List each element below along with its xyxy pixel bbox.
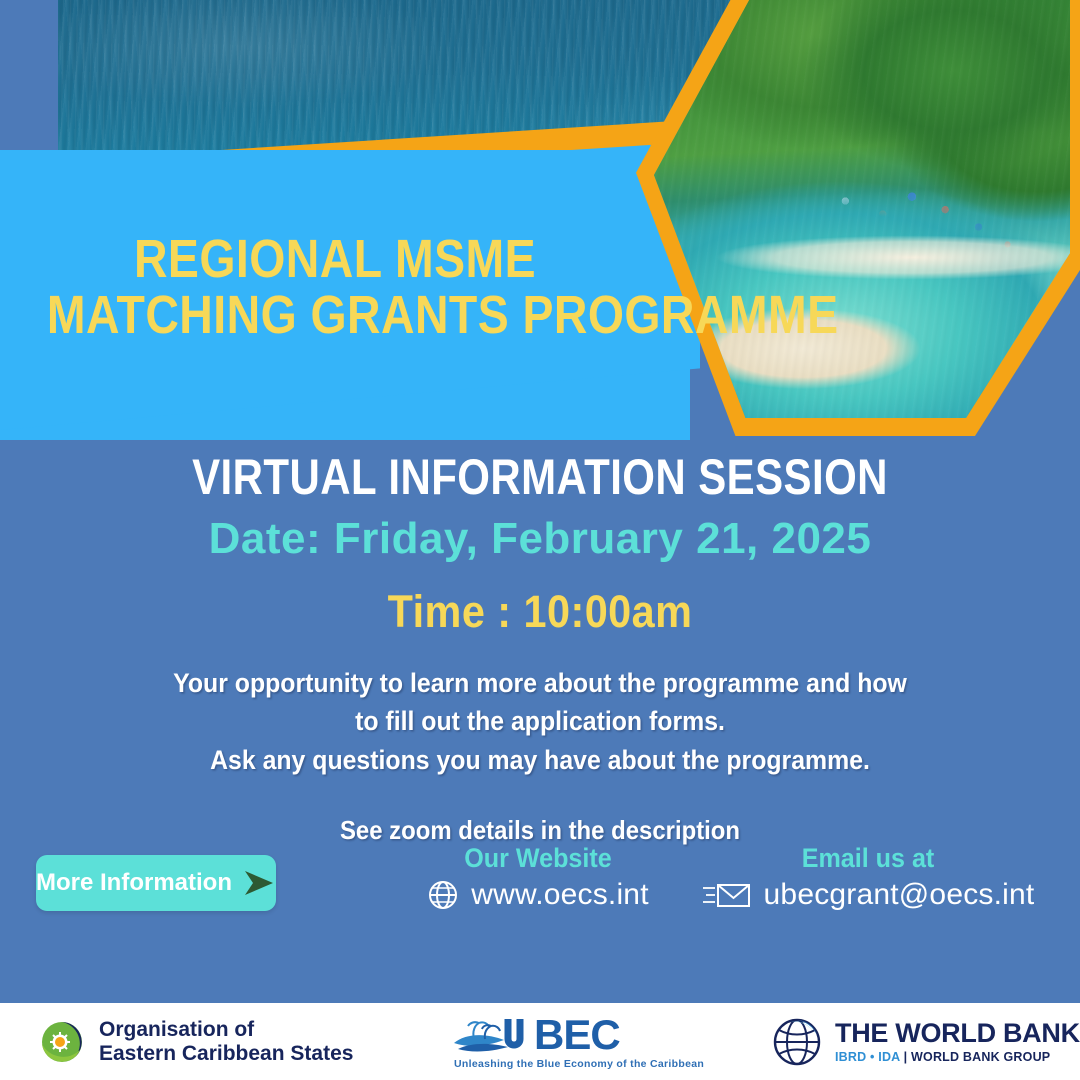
title-line-1: REGIONAL MSME <box>47 232 623 288</box>
oecs-name-line-2: Eastern Caribbean States <box>99 1042 353 1066</box>
website-value[interactable]: www.oecs.int <box>471 878 648 912</box>
ubec-wordmark: BEC <box>534 1014 620 1056</box>
contact-row: More Information Our Website www.oecs.in… <box>0 843 1080 943</box>
world-bank-sub-divider: | <box>904 1050 908 1064</box>
email-label: Email us at <box>701 843 1036 874</box>
email-value[interactable]: ubecgrant@oecs.int <box>764 878 1035 912</box>
email-contact: Email us at ubecgrant@oecs.int <box>688 843 1048 912</box>
website-label: Our Website <box>399 843 678 874</box>
website-contact: Our Website www.oecs.int <box>388 843 688 912</box>
zoom-details-note: See zoom details in the description <box>43 815 1037 846</box>
programme-title: REGIONAL MSME MATCHING GRANTS PROGRAMME <box>0 232 670 343</box>
world-bank-subtitle: IBRD • IDA | WORLD BANK GROUP <box>835 1050 1080 1064</box>
more-information-button[interactable]: More Information <box>36 855 276 911</box>
body-line-3: Ask any questions you may have about the… <box>43 741 1037 779</box>
left-slate-strip <box>0 0 58 160</box>
hexagon-photo-frame <box>636 0 1080 436</box>
time-line: Time : 10:00am <box>43 586 1037 638</box>
session-heading: VIRTUAL INFORMATION SESSION <box>86 448 993 506</box>
body-text: Your opportunity to learn more about the… <box>43 664 1037 779</box>
ubec-logo: BEC Unleashing the Blue Economy of the C… <box>452 1013 704 1070</box>
partner-logos-footer: Organisation of Eastern Caribbean States… <box>0 1003 1080 1080</box>
oecs-logo: Organisation of Eastern Caribbean States <box>36 1016 353 1068</box>
world-bank-name: THE WORLD BANK <box>835 1019 1080 1047</box>
ubec-island-logo-icon <box>452 1013 530 1057</box>
oecs-sun-logo-icon <box>36 1016 88 1068</box>
body-line-1: Your opportunity to learn more about the… <box>43 664 1037 702</box>
oecs-name-line-1: Organisation of <box>99 1018 353 1042</box>
world-bank-sub-left: IBRD • IDA <box>835 1050 900 1064</box>
poster-canvas: REGIONAL MSME MATCHING GRANTS PROGRAMME … <box>0 0 1080 1080</box>
more-information-label: More Information <box>36 869 232 897</box>
main-content: VIRTUAL INFORMATION SESSION Date: Friday… <box>0 448 1080 846</box>
ubec-tagline: Unleashing the Blue Economy of the Carib… <box>454 1058 704 1070</box>
world-bank-globe-icon <box>770 1015 824 1069</box>
title-line-2: MATCHING GRANTS PROGRAMME <box>47 288 623 344</box>
globe-icon <box>427 879 459 911</box>
envelope-icon <box>702 879 752 911</box>
world-bank-sub-right: WORLD BANK GROUP <box>911 1050 1050 1064</box>
arrow-right-icon <box>242 868 276 898</box>
body-line-2: to fill out the application forms. <box>43 702 1037 740</box>
world-bank-logo: THE WORLD BANK IBRD • IDA | WORLD BANK G… <box>770 1015 1080 1069</box>
date-line: Date: Friday, February 21, 2025 <box>0 514 1080 564</box>
